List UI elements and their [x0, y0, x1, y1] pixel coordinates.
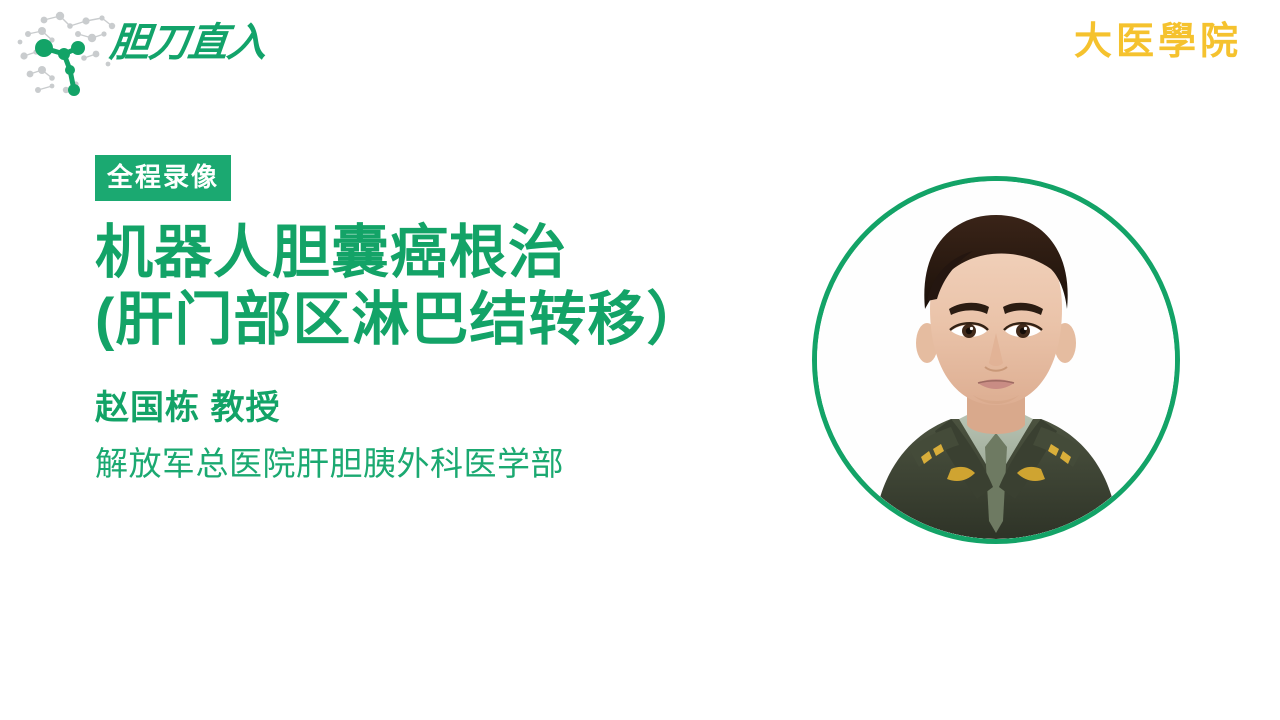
header-bar: 胆刀直入 大医學院	[0, 0, 1280, 110]
presenter-name: 赵国栋 教授	[95, 388, 795, 429]
network-nodes-icon	[8, 4, 120, 108]
content-column: 全程录像 机器人胆囊癌根治 (肝门部区淋巴结转移） 赵国栋 教授 解放军总医院肝…	[95, 155, 795, 484]
presenter-affiliation: 解放军总医院肝胆胰外科医学部	[95, 444, 795, 484]
academy-logo: 大医學院	[1074, 22, 1242, 60]
page-title: 机器人胆囊癌根治 (肝门部区淋巴结转移）	[95, 219, 795, 354]
brand-logo: 胆刀直入	[110, 18, 266, 68]
presenter-avatar	[812, 176, 1180, 544]
status-badge: 全程录像	[95, 155, 231, 201]
title-slide: 胆刀直入 大医學院 全程录像 机器人胆囊癌根治 (肝门部区淋巴结转移） 赵国栋 …	[0, 0, 1280, 720]
presenter-photo	[817, 181, 1175, 539]
page-title-line-1: 机器人胆囊癌根治	[95, 219, 795, 286]
brand-logo-text: 胆刀直入	[108, 23, 268, 63]
page-title-line-2: (肝门部区淋巴结转移）	[95, 286, 795, 353]
